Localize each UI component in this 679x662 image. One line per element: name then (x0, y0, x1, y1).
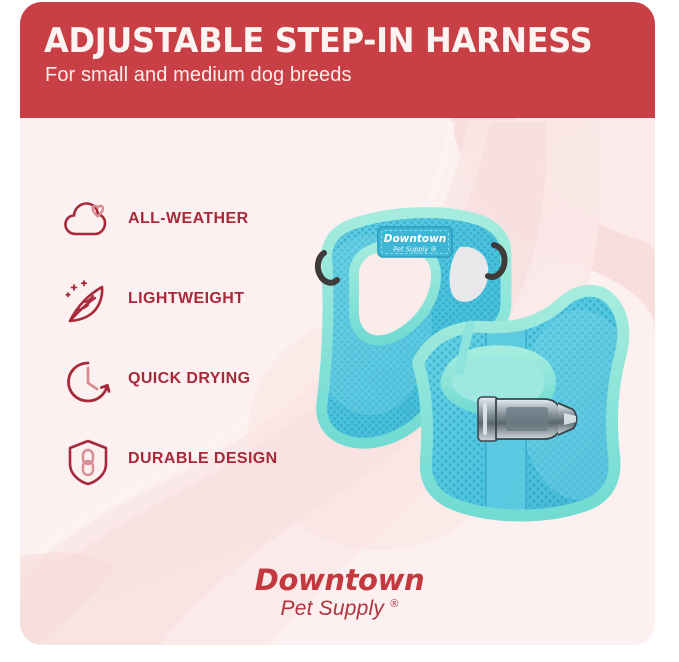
page-subtitle: For small and medium dog breeds (45, 65, 352, 85)
page-title: ADJUSTABLE STEP-IN HARNESS (44, 24, 592, 58)
feature-item-durable-design: DURABLE DESIGN (62, 436, 312, 516)
tag-brand-text: Downtown (384, 233, 447, 245)
header-banner: ADJUSTABLE STEP-IN HARNESS For small and… (20, 2, 655, 118)
logo-brand-name: Downtown (0, 566, 679, 595)
logo-tagline-text: Pet Supply (281, 597, 385, 620)
clock-arrow-icon (62, 356, 114, 408)
product-photo: Downtown Pet Supply ® (280, 175, 660, 565)
product-label-tag: Downtown Pet Supply ® (378, 227, 452, 257)
feather-sparkle-icon (62, 276, 114, 328)
feature-label: LIGHTWEIGHT (128, 290, 244, 308)
feature-list: ALL-WEATHER LIGHTWEIGHT (62, 196, 312, 516)
feature-label: QUICK DRYING (128, 370, 250, 388)
feature-item-all-weather: ALL-WEATHER (62, 196, 312, 276)
brand-logo: Downtown Pet Supply ® (0, 566, 679, 620)
registered-mark: ® (390, 598, 398, 610)
feature-item-lightweight: LIGHTWEIGHT (62, 276, 312, 356)
logo-tagline: Pet Supply ® (0, 597, 679, 620)
product-marketing-image: ADJUSTABLE STEP-IN HARNESS For small and… (0, 0, 679, 662)
cloud-heart-icon (62, 196, 114, 248)
feature-label: ALL-WEATHER (128, 210, 249, 228)
feature-item-quick-drying: QUICK DRYING (62, 356, 312, 436)
tag-subbrand-text: Pet Supply ® (393, 246, 437, 254)
feature-label: DURABLE DESIGN (128, 450, 278, 468)
shield-chain-icon (62, 436, 114, 488)
